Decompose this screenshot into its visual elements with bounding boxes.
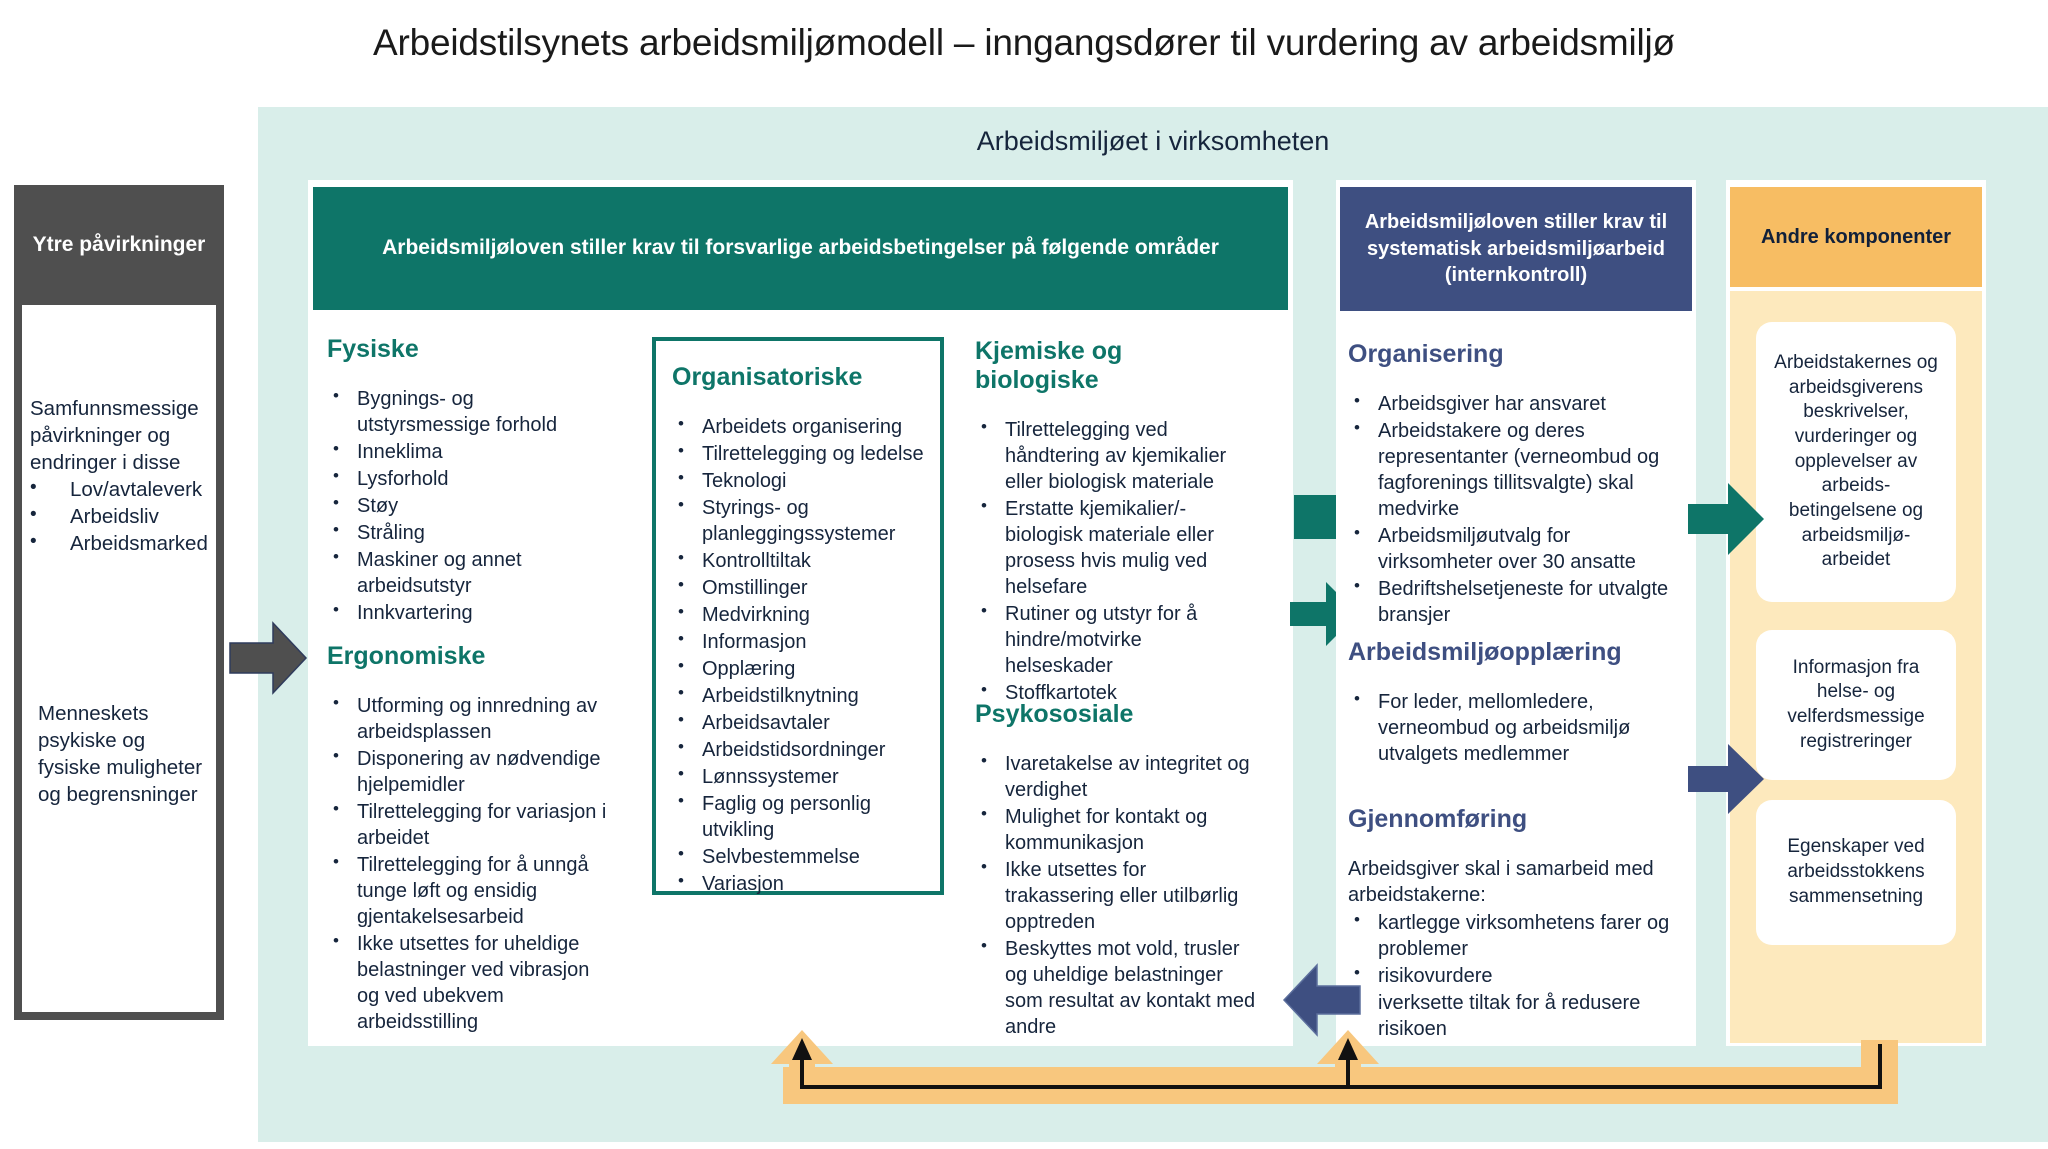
section-body: kartlegge virksomhetens farer og problem…: [1348, 910, 1683, 1042]
list-item: Lønnssystemer: [672, 764, 924, 790]
other-components-header: Andre komponenter: [1730, 187, 1982, 287]
column-body: Bygnings- og utstyrsmessige forhold Inne…: [327, 386, 587, 626]
list-item: Omstillinger: [672, 575, 924, 601]
list-item: Stråling: [327, 520, 587, 546]
list-item: Arbeidsmarked: [30, 530, 210, 557]
list-item: Disponering av nødvendige hjelpemidler: [327, 746, 617, 798]
column-heading: Ergonomiske: [327, 642, 617, 671]
column-heading: Organisatoriske: [672, 363, 924, 392]
list-item: Arbeidstilknytning: [672, 683, 924, 709]
section-arbeidsmiljoopplaering: Arbeidsmiljøopplæring For leder, melloml…: [1348, 638, 1678, 768]
list-item: Tilrettelegging og ledelse: [672, 441, 924, 467]
column-heading: Fysiske: [327, 335, 587, 364]
section-organisering: Organisering Arbeidsgiver har ansvaret A…: [1348, 340, 1688, 629]
other-component-card: Arbeidstakernes og arbeidsgiverens beskr…: [1756, 322, 1956, 602]
list-item: Arbeidsliv: [30, 503, 210, 530]
column-body: Ivaretakelse av integritet og verdighet …: [975, 751, 1260, 1040]
list-item: Utforming og innredning av arbeidsplasse…: [327, 693, 617, 745]
section-list: kartlegge virksomhetens farer og problem…: [1348, 910, 1683, 1042]
feedback-guideline: [770, 1030, 1900, 1100]
list-item: Arbeidstidsordninger: [672, 737, 924, 763]
list-item: Medvirkning: [672, 602, 924, 628]
blue-to-green-feedback-arrow: [1282, 962, 1362, 1038]
section-heading: Gjennomføring: [1348, 805, 1683, 834]
external-societal-block: Samfunnsmessige påvirkninger og endringe…: [30, 395, 210, 557]
list-item: Faglig og personlig utvikling: [672, 791, 924, 843]
external-human-block: Menneskets psykiske og fysiske mulighete…: [38, 700, 213, 808]
section-body: Arbeidsgiver har ansvaret Arbeidstakere …: [1348, 391, 1688, 628]
list-item: Arbeidsgiver har ansvaret: [1348, 391, 1688, 417]
list-item: Arbeidstakere og deres representanter (v…: [1348, 418, 1688, 522]
list-item: Lov/avtaleverk: [30, 476, 210, 503]
blue-to-orange-bottom-arrow: [1686, 740, 1766, 818]
section-intro: Arbeidsgiver skal i samarbeid med arbeid…: [1348, 856, 1683, 908]
list-item: Lysforhold: [327, 466, 587, 492]
section-list: Arbeidsgiver har ansvaret Arbeidstakere …: [1348, 391, 1688, 628]
list-item: Selvbestemmelse: [672, 844, 924, 870]
column-body: Utforming og innredning av arbeidsplasse…: [327, 693, 617, 1035]
other-component-card: Egenskaper ved arbeidsstokkens sammenset…: [1756, 800, 1956, 945]
external-to-green-arrow: [228, 620, 308, 696]
list-item: Bedriftshelsetjeneste for utvalgte brans…: [1348, 576, 1688, 628]
list-item: Maskiner og annet arbeidsutstyr: [327, 547, 587, 599]
canvas-label: Arbeidsmiljøet i virksomheten: [258, 126, 2048, 157]
list-item: Beskyttes mot vold, trusler og uheldige …: [975, 936, 1260, 1040]
column-heading: Kjemiske og biologiske: [975, 337, 1250, 395]
list-item: Arbeidets organisering: [672, 414, 924, 440]
section-body: For leder, mellomledere, verneombud og a…: [1348, 689, 1678, 767]
list-item: Arbeidsmiljøutvalg for virksomheter over…: [1348, 523, 1688, 575]
list-item: Arbeidsavtaler: [672, 710, 924, 736]
list-item: Styrings- og planleggingssystemer: [672, 495, 924, 547]
list-item: Ivaretakelse av integritet og verdighet: [975, 751, 1260, 803]
list-item: Tilrettelegging for variasjon i arbeidet: [327, 799, 617, 851]
list-item: Ikke utsettes for uheldige belastninger …: [327, 931, 617, 1035]
section-heading: Organisering: [1348, 340, 1688, 369]
list-item: kartlegge virksomhetens farer og problem…: [1348, 910, 1683, 962]
external-societal-list: Lov/avtaleverk Arbeidsliv Arbeidsmarked: [30, 476, 210, 557]
list-item: Variasjon: [672, 871, 924, 897]
column-organisatoriske: Organisatoriske Arbeidets organisering T…: [652, 337, 944, 895]
column-kjemiske-biologiske: Kjemiske og biologiske Tilrettelegging v…: [975, 337, 1250, 707]
column-body: Tilrettelegging ved håndtering av kjemik…: [975, 417, 1250, 706]
column-heading: Psykososiale: [975, 700, 1260, 729]
green-to-blue-connector: [1294, 495, 1338, 539]
column-list: Tilrettelegging ved håndtering av kjemik…: [975, 417, 1250, 706]
list-item: Innkvartering: [327, 600, 587, 626]
column-list: Bygnings- og utstyrsmessige forhold Inne…: [327, 386, 587, 626]
list-item: Bygnings- og utstyrsmessige forhold: [327, 386, 587, 438]
column-psykososiale: Psykososiale Ivaretakelse av integritet …: [975, 700, 1260, 1041]
section-heading: Arbeidsmiljøopplæring: [1348, 638, 1678, 667]
list-item: For leder, mellomledere, verneombud og a…: [1348, 689, 1678, 767]
list-item: Informasjon: [672, 629, 924, 655]
external-influences-header: Ytre påvirkninger: [14, 185, 224, 305]
list-item: Ikke utsettes for trakassering eller uti…: [975, 857, 1260, 935]
column-body: Arbeidets organisering Tilrettelegging o…: [672, 414, 924, 897]
blue-panel-header: Arbeidsmiljøloven stiller krav til syste…: [1340, 187, 1692, 311]
list-item: Mulighet for kontakt og kommunikasjon: [975, 804, 1260, 856]
section-list: For leder, mellomledere, verneombud og a…: [1348, 689, 1678, 767]
blue-to-orange-top-arrow: [1686, 480, 1766, 558]
column-list: Ivaretakelse av integritet og verdighet …: [975, 751, 1260, 1040]
green-panel-header: Arbeidsmiljøloven stiller krav til forsv…: [313, 187, 1288, 310]
list-item: Rutiner og utstyr for å hindre/motvirke …: [975, 601, 1250, 679]
column-fysiske: Fysiske Bygnings- og utstyrsmessige forh…: [327, 335, 587, 627]
list-item: Inneklima: [327, 439, 587, 465]
list-item: Opplæring: [672, 656, 924, 682]
list-item: Støy: [327, 493, 587, 519]
external-societal-intro: Samfunnsmessige påvirkninger og endringe…: [30, 395, 210, 476]
column-list: Utforming og innredning av arbeidsplasse…: [327, 693, 617, 1035]
page-title: Arbeidstilsynets arbeidsmiljømodell – in…: [0, 22, 2048, 64]
column-ergonomiske: Ergonomiske Utforming og innredning av a…: [327, 642, 617, 1036]
list-item: risikovurdere: [1348, 963, 1683, 989]
list-item: Tilrettelegging for å unngå tunge løft o…: [327, 852, 617, 930]
section-gjennomforing: Gjennomføring Arbeidsgiver skal i samarb…: [1348, 805, 1683, 1043]
list-item: Kontrolltiltak: [672, 548, 924, 574]
list-item: Tilrettelegging ved håndtering av kjemik…: [975, 417, 1250, 495]
list-item: Teknologi: [672, 468, 924, 494]
list-item: Erstatte kjemikalier/-biologisk material…: [975, 496, 1250, 600]
other-component-card: Informasjon fra helse- og velferdsmessig…: [1756, 630, 1956, 780]
column-list: Arbeidets organisering Tilrettelegging o…: [672, 414, 924, 897]
